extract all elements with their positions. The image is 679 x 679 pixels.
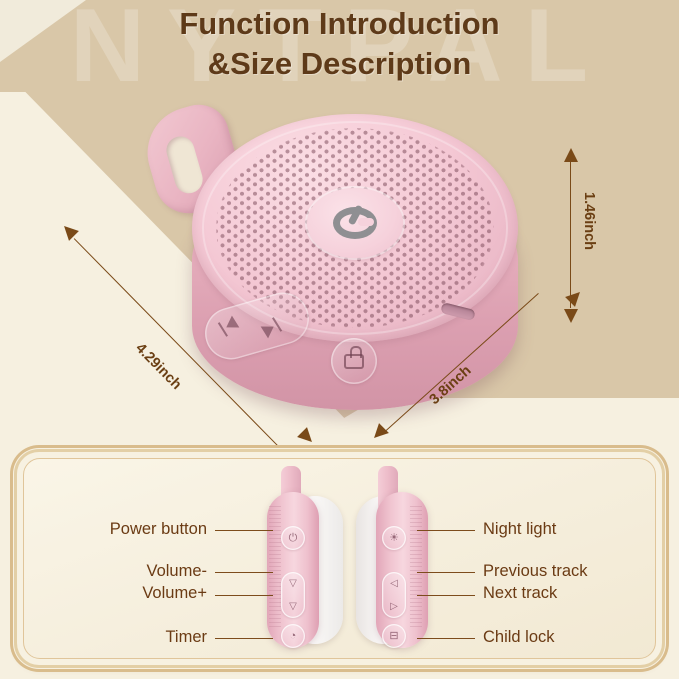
leader-line [215, 530, 273, 531]
leader-line [215, 572, 273, 573]
next-track-icon: ▷ [382, 595, 406, 618]
timer-icon: ◔ [290, 631, 297, 642]
leader-line [417, 595, 475, 596]
callout-label-power-button: Power button [57, 520, 207, 539]
page-title-line-2: &Size Description [0, 44, 679, 84]
previous-track-icon: ◁ [382, 572, 406, 595]
dimension-width: 4.29inch [58, 222, 358, 452]
callout-label-next-track: Next track [483, 584, 557, 603]
dimension-height-label: 1.46inch [581, 192, 597, 250]
leader-line [417, 638, 475, 639]
volume-buttons[interactable]: ▽ ▽ [281, 572, 305, 618]
power-button[interactable]: ⏻ [281, 526, 305, 550]
callout-label-volume-down: Volume- [87, 562, 207, 581]
leader-line [417, 572, 475, 573]
dimension-width-label: 4.29inch [132, 340, 184, 393]
page-title-line-1: Function Introduction [179, 6, 499, 41]
device-texture-ridges [410, 506, 422, 628]
night-light-button[interactable]: ☀ [382, 526, 406, 550]
leader-line [417, 530, 475, 531]
infographic-canvas: NYTPAL Function Introduction &Size Descr… [0, 0, 679, 679]
arrow-up-left-icon [59, 221, 79, 241]
volume-down-icon: ▽ [281, 572, 305, 595]
callout-label-timer: Timer [107, 628, 207, 647]
child-lock-button[interactable]: ⊟ [382, 624, 406, 648]
dimension-line [74, 238, 282, 449]
leader-line [215, 638, 273, 639]
arrow-down-right-icon [297, 427, 317, 447]
arrow-down-left-icon [369, 423, 389, 443]
track-buttons[interactable]: ◁ ▷ [382, 572, 406, 618]
night-light-icon: ☀ [389, 533, 399, 544]
callout-label-previous-track: Previous track [483, 562, 588, 581]
callout-label-night-light: Night light [483, 520, 556, 539]
callout-label-child-lock: Child lock [483, 628, 555, 647]
volume-up-icon: ▽ [281, 595, 305, 618]
child-lock-icon: ⊟ [389, 631, 398, 642]
timer-button[interactable]: ◔ [281, 624, 305, 648]
dimension-line [570, 160, 571, 308]
callout-label-volume-up: Volume+ [87, 584, 207, 603]
device-texture-ridges [269, 506, 281, 628]
feature-callout-panel: ⏻ ▽ ▽ ◔ ☀ ◁ ▷ ⊟ [17, 452, 662, 665]
device-side-view-right: ☀ ◁ ▷ ⊟ [362, 466, 442, 652]
page-title: Function Introduction &Size Description [0, 4, 679, 84]
leader-line [215, 595, 273, 596]
power-icon: ⏻ [289, 533, 298, 544]
device-side-view-left: ⏻ ▽ ▽ ◔ [257, 466, 337, 652]
dimension-depth: 3.8inch [372, 292, 590, 447]
